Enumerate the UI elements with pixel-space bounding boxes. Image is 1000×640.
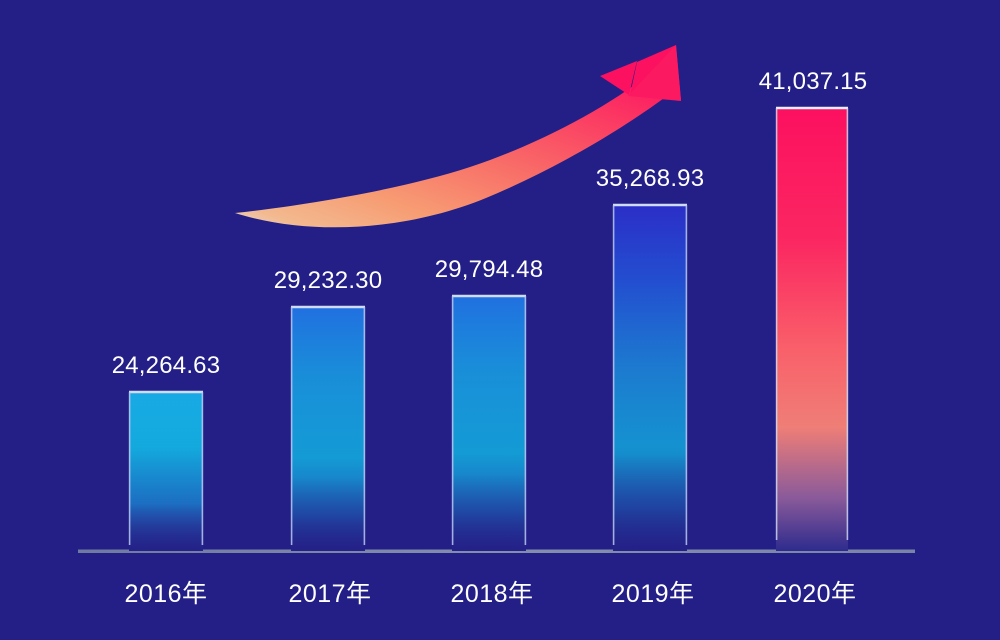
chart-container: 24,264.63 29,232.30 29,794.48 35,268.93 … — [0, 0, 1000, 640]
bar-2018[interactable] — [452, 296, 526, 551]
value-label-2016: 24,264.63 — [112, 352, 221, 380]
bar-2017[interactable] — [291, 307, 365, 551]
value-label-2020: 41,037.15 — [759, 68, 868, 96]
x-tick-label-2018: 2018年 — [450, 574, 533, 610]
x-tick-label-2020: 2020年 — [773, 574, 856, 610]
x-tick-label-2019: 2019年 — [611, 574, 694, 610]
bar-2016[interactable] — [129, 392, 203, 551]
chart-canvas — [0, 0, 1000, 640]
value-label-2018: 29,794.48 — [435, 256, 544, 284]
bar-2020[interactable] — [776, 108, 848, 551]
bar-2019[interactable] — [613, 205, 687, 551]
growth-arrow-icon — [235, 45, 681, 227]
x-tick-label-2016: 2016年 — [124, 574, 207, 610]
value-label-2017: 29,232.30 — [274, 267, 383, 295]
x-tick-label-2017: 2017年 — [288, 574, 371, 610]
value-label-2019: 35,268.93 — [596, 165, 705, 193]
